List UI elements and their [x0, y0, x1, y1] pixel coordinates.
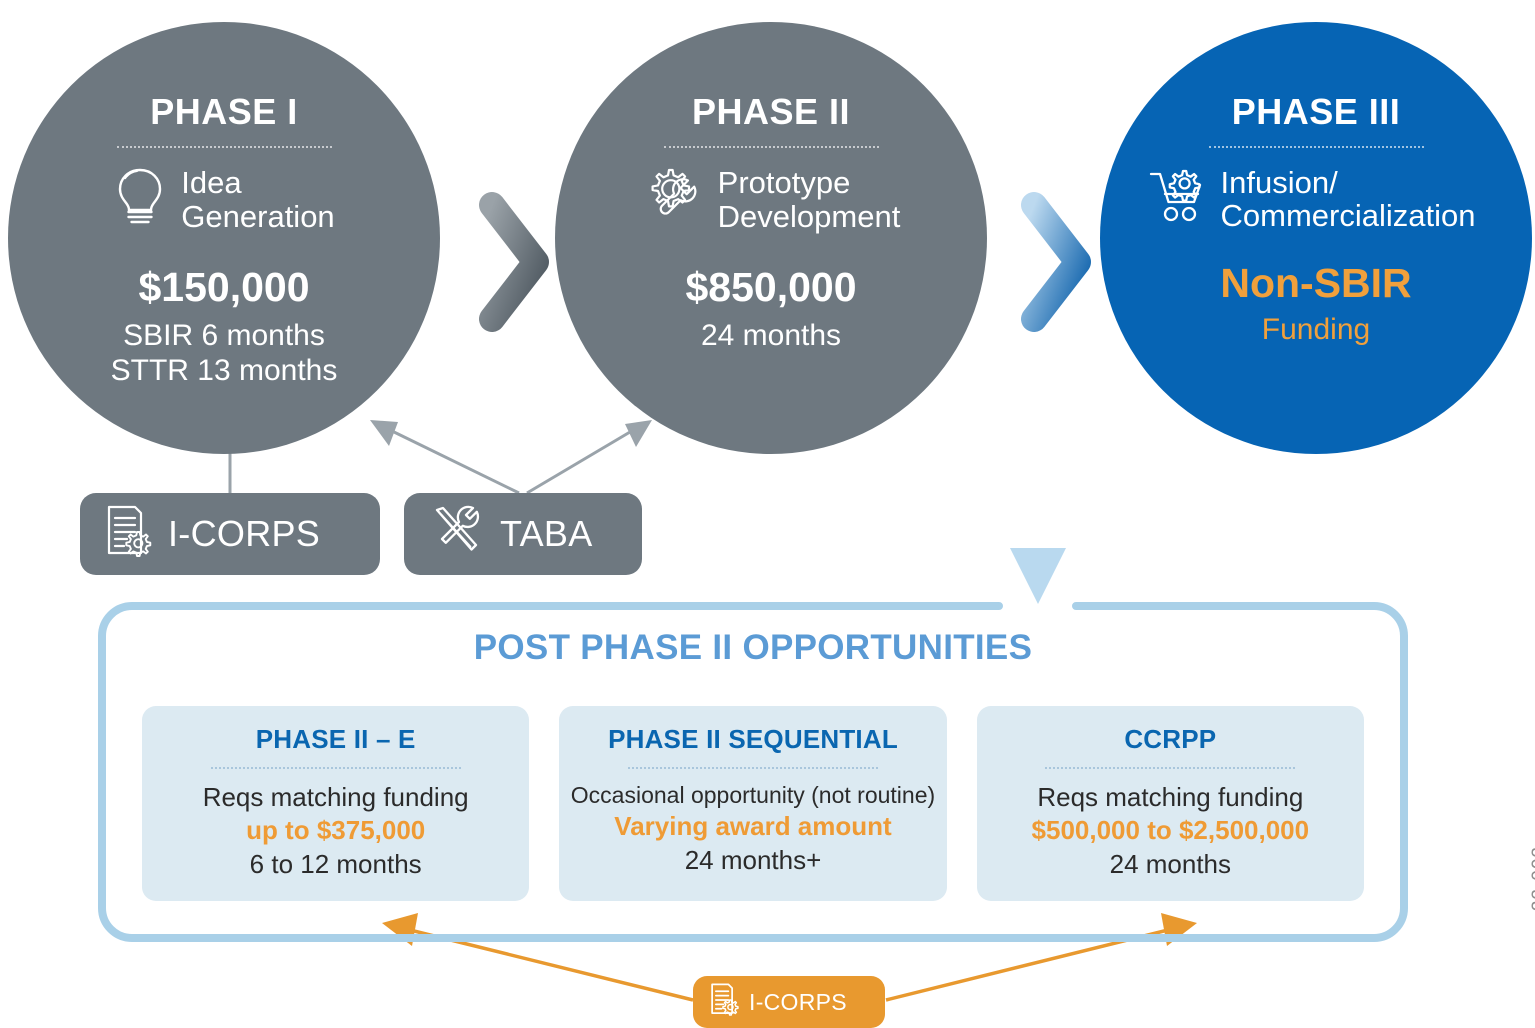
phase-2-sub-line1: 24 months	[701, 319, 841, 352]
phase-1-divider	[117, 146, 332, 148]
phase-1-icon-label: Idea Generation	[181, 166, 334, 233]
phase-3-divider	[1209, 146, 1424, 148]
phase-2-amount: $850,000	[685, 267, 856, 308]
phase-3-icon-row: Infusion/ Commercialization	[1149, 166, 1476, 233]
phase-3-sub: Funding	[1262, 312, 1370, 347]
card-divider	[211, 767, 461, 769]
phase-2-title: PHASE II	[692, 94, 850, 130]
gear-wrench-icon	[642, 166, 704, 233]
phase-3-icon-label: Infusion/ Commercialization	[1221, 166, 1476, 233]
phase-1-sub: SBIR 6 months STTR 13 months	[111, 318, 338, 388]
pill-icorps-top-label: I-CORPS	[168, 513, 320, 555]
card-title: PHASE II – E	[256, 724, 416, 755]
post-phase-opportunities-panel: POST PHASE II OPPORTUNITIES PHASE II – E…	[98, 602, 1408, 942]
arrow-taba-to-phase2	[527, 420, 652, 493]
card-divider	[628, 767, 878, 769]
card-line-3: 6 to 12 months	[250, 848, 422, 881]
cart-gear-icon	[1149, 169, 1209, 230]
phase-3-title: PHASE III	[1232, 94, 1401, 130]
opportunity-card-ccrpp[interactable]: CCRPP Reqs matching funding $500,000 to …	[977, 706, 1364, 901]
chevron-phase2-to-phase3	[1034, 205, 1078, 319]
phase-3-circle[interactable]: PHASE III Infusion/ Commercialization	[1100, 22, 1532, 454]
card-line-1: Occasional opportunity (not routine)	[571, 781, 935, 810]
card-line-2: Varying award amount	[614, 810, 891, 843]
phase-2-circle[interactable]: PHASE II Prototype Development $850,000 …	[555, 22, 987, 454]
phase-1-label-line2: Generation	[181, 199, 334, 234]
phase-3-label-line1: Infusion/	[1221, 165, 1338, 200]
card-divider	[1045, 767, 1295, 769]
opportunity-card-phase2-sequential[interactable]: PHASE II SEQUENTIAL Occasional opportuni…	[559, 706, 946, 901]
phase-2-label-line2: Development	[718, 199, 901, 234]
wrench-pencil-icon	[428, 504, 484, 565]
pill-taba-label: TABA	[500, 513, 593, 555]
card-line-1: Reqs matching funding	[203, 781, 469, 814]
lightbulb-icon	[113, 166, 167, 233]
card-line-1: Reqs matching funding	[1037, 781, 1303, 814]
post-phase-title: POST PHASE II OPPORTUNITIES	[98, 628, 1408, 668]
opportunity-card-phase2e[interactable]: PHASE II – E Reqs matching funding up to…	[142, 706, 529, 901]
pill-icorps-top[interactable]: I-CORPS	[80, 493, 380, 575]
pill-icorps-bottom-label: I-CORPS	[749, 989, 847, 1016]
card-title: PHASE II SEQUENTIAL	[608, 724, 898, 755]
opportunity-cards-row: PHASE II – E Reqs matching funding up to…	[142, 706, 1364, 901]
phase-1-amount: $150,000	[138, 267, 309, 308]
document-gear-icon	[709, 982, 739, 1023]
card-line-3: 24 months	[1110, 848, 1231, 881]
down-arrow-to-post-phase	[1010, 345, 1066, 604]
phase-2-icon-label: Prototype Development	[718, 166, 901, 233]
chevron-phase1-to-phase2	[492, 205, 536, 319]
card-line-2: $500,000 to $2,500,000	[1032, 814, 1310, 847]
card-line-2: up to $375,000	[246, 814, 425, 847]
phase-1-title: PHASE I	[150, 94, 298, 130]
phase-3-sub-line1: Funding	[1262, 313, 1370, 346]
infographic-canvas: PHASE I Idea Generation $150,000 SBIR 6 …	[0, 0, 1535, 1028]
pill-taba[interactable]: TABA	[404, 493, 642, 575]
phase-3-amount: Non-SBIR	[1220, 263, 1411, 304]
pill-icorps-bottom[interactable]: I-CORPS	[693, 976, 885, 1028]
document-gear-icon	[104, 504, 152, 565]
arrow-taba-to-phase1	[370, 420, 519, 493]
phase-1-icon-row: Idea Generation	[113, 166, 334, 233]
document-code: 22-002	[1529, 846, 1535, 911]
card-title: CCRPP	[1124, 724, 1216, 755]
phase-1-sub-line2: STTR 13 months	[111, 354, 338, 387]
phase-1-circle[interactable]: PHASE I Idea Generation $150,000 SBIR 6 …	[8, 22, 440, 454]
phase-1-sub-line1: SBIR 6 months	[123, 319, 325, 352]
phase-2-divider	[664, 146, 879, 148]
phase-3-label-line2: Commercialization	[1221, 198, 1476, 233]
phase-1-label-line1: Idea	[181, 165, 241, 200]
phase-2-icon-row: Prototype Development	[642, 166, 901, 233]
phase-2-label-line1: Prototype	[718, 165, 851, 200]
phase-2-sub: 24 months	[701, 318, 841, 353]
card-line-3: 24 months+	[685, 844, 822, 877]
